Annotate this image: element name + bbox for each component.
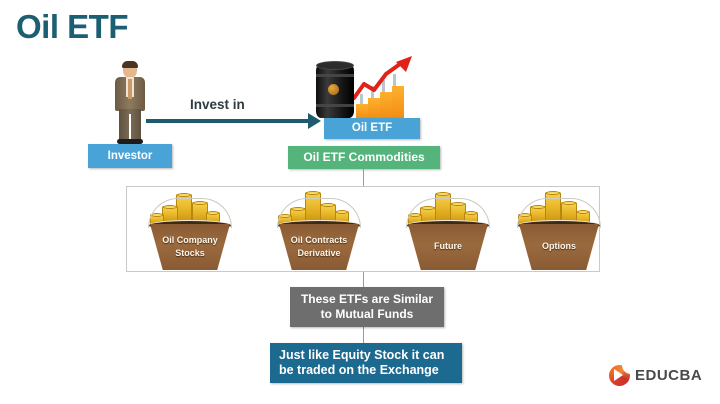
mutual-funds-note-line2: to Mutual Funds: [301, 307, 433, 322]
infographic-canvas: Oil ETF Investor Invest in: [0, 0, 720, 404]
investor-leg-gap: [129, 114, 131, 141]
exchange-note-line2: be traded on the Exchange: [279, 363, 444, 378]
invest-in-label: Invest in: [190, 97, 245, 112]
businessman-icon: [106, 62, 154, 146]
basket-label-line2: Derivative: [279, 247, 359, 260]
connector-line: [363, 272, 364, 287]
investor-tie: [128, 79, 132, 99]
basket-label: Options: [519, 240, 599, 253]
basket-oil-contracts-derivative: Oil Contracts Derivative: [265, 190, 373, 270]
mutual-funds-note-line1: These ETFs are Similar: [301, 292, 433, 307]
basket-label-line1: Future: [408, 240, 488, 253]
exchange-note: Just like Equity Stock it can be traded …: [270, 343, 462, 383]
basket-options: Options: [505, 190, 613, 270]
mutual-funds-note: These ETFs are Similar to Mutual Funds: [290, 287, 444, 327]
barrel-ring: [316, 104, 354, 107]
investor-hair: [122, 61, 138, 68]
page-title: Oil ETF: [16, 8, 128, 46]
basket-label: Future: [408, 240, 488, 253]
basket-label-line1: Oil Company: [150, 234, 230, 247]
educba-logo: EDUCBA: [609, 365, 702, 386]
investor-label: Investor: [88, 144, 172, 168]
basket-label: Oil Company Stocks: [150, 234, 230, 260]
basket-label-line2: Stocks: [150, 247, 230, 260]
educba-wordmark: EDUCBA: [635, 367, 702, 384]
connector-line: [363, 327, 364, 343]
oil-etf-label: Oil ETF: [324, 118, 420, 139]
barrel-top: [316, 61, 354, 70]
educba-e-logo-icon: [609, 365, 630, 386]
exchange-note-line1: Just like Equity Stock it can: [279, 348, 444, 363]
barrel-valve: [328, 84, 339, 95]
basket-label: Oil Contracts Derivative: [279, 234, 359, 260]
basket-label-line1: Oil Contracts: [279, 234, 359, 247]
basket-oil-company-stocks: Oil Company Stocks: [136, 190, 244, 270]
basket-label-line1: Options: [519, 240, 599, 253]
oil-etf-commodities-label: Oil ETF Commodities: [288, 146, 440, 169]
connector-line: [363, 169, 364, 186]
oil-barrel-growth-chart-icon: [314, 54, 418, 120]
barrel-ring: [316, 74, 354, 77]
invest-arrow-line: [146, 119, 310, 123]
basket-future: Future: [394, 190, 502, 270]
